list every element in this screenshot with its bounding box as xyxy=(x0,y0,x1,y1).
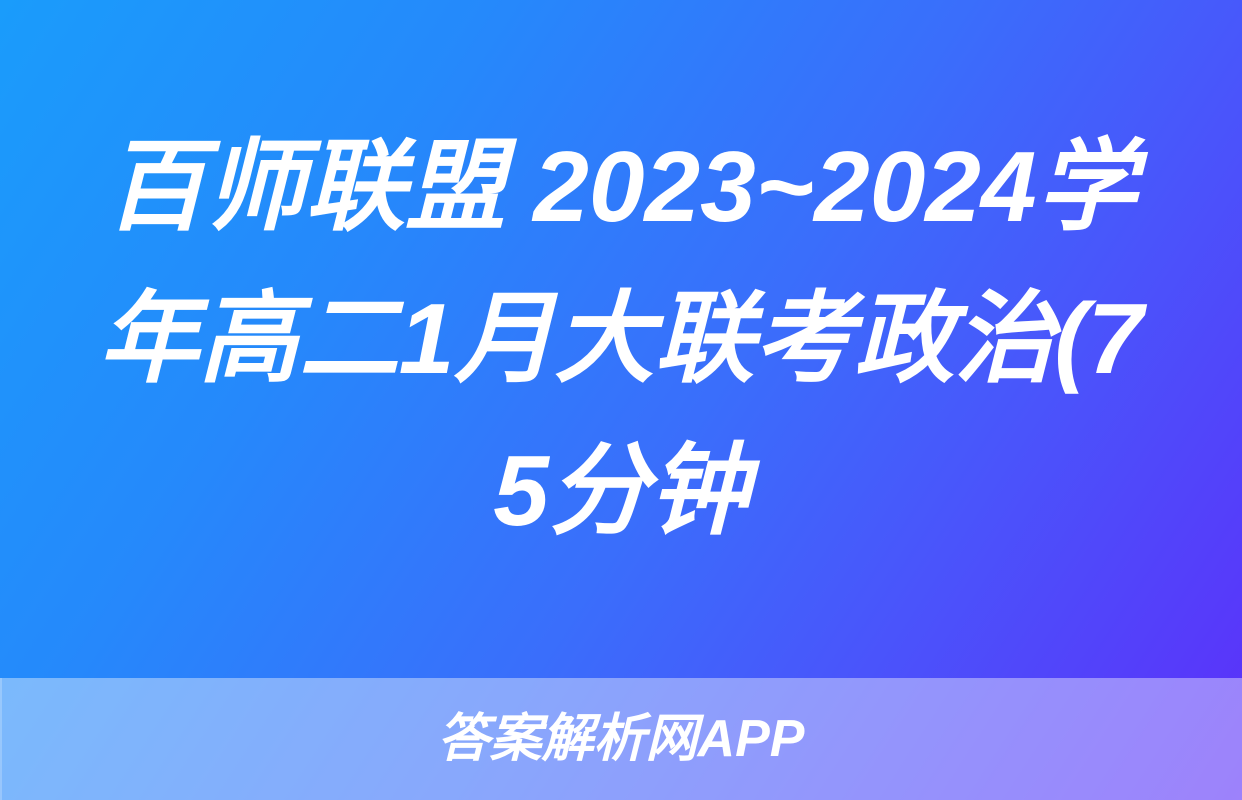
footer-watermark-band: 答案解析网APP xyxy=(0,678,1242,800)
app-watermark-label: 答案解析网APP xyxy=(438,713,805,765)
title-area: 百师联盟 2023~2024学年高二1月大联考政治(75分钟 xyxy=(0,0,1242,678)
exam-cover-poster: 百师联盟 2023~2024学年高二1月大联考政治(75分钟 答案解析网APP xyxy=(0,0,1242,800)
footer-left-edge xyxy=(0,678,2,800)
page-title: 百师联盟 2023~2024学年高二1月大联考政治(75分钟 xyxy=(81,111,1161,567)
